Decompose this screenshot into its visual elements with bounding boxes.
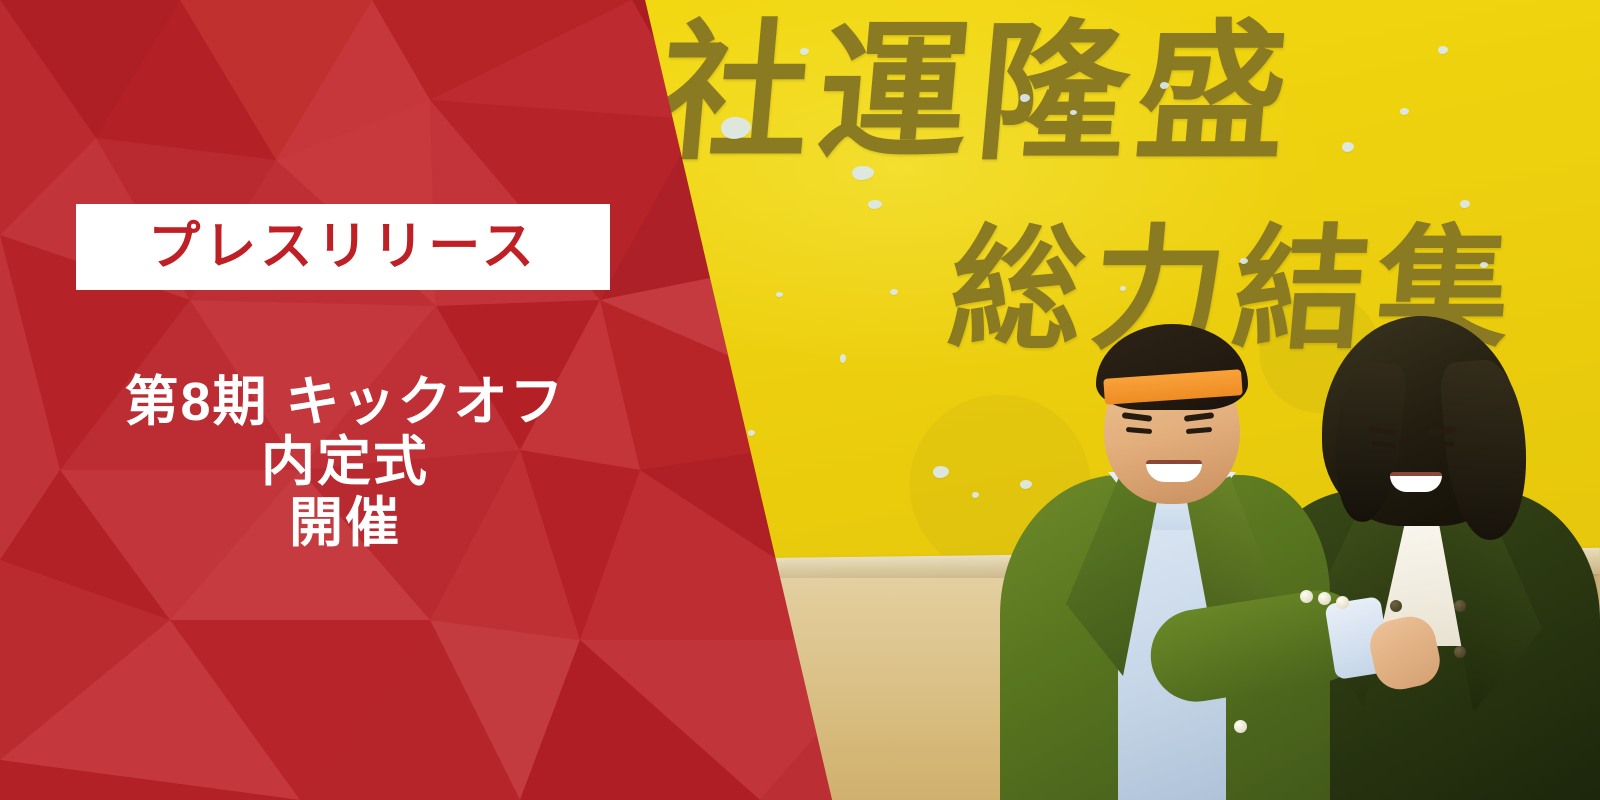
page-title-line-2: 内定式 (40, 432, 650, 492)
person-left (1000, 300, 1330, 800)
right-man-smile (1390, 472, 1442, 492)
jacket-button (1336, 596, 1349, 609)
page-title-line-1: 第8期 キックオフ (40, 372, 650, 432)
coat-button (1454, 600, 1466, 612)
left-man-smile (1146, 460, 1202, 482)
page-title: 第8期 キックオフ 内定式 開催 (40, 372, 650, 553)
press-release-badge-label: プレスリリース (148, 221, 537, 273)
jacket-button (1318, 592, 1331, 605)
page-title-line-3: 開催 (40, 493, 650, 553)
coat-button (1454, 646, 1466, 658)
press-release-badge: プレスリリース (76, 204, 610, 290)
jacket-button (1234, 720, 1247, 733)
jacket-button (1300, 590, 1313, 603)
press-release-banner: 社運隆盛 総力結集 (0, 0, 1600, 800)
calligraphy-line-1: 社運隆盛 (653, 18, 1302, 168)
coat-button (1390, 600, 1402, 612)
